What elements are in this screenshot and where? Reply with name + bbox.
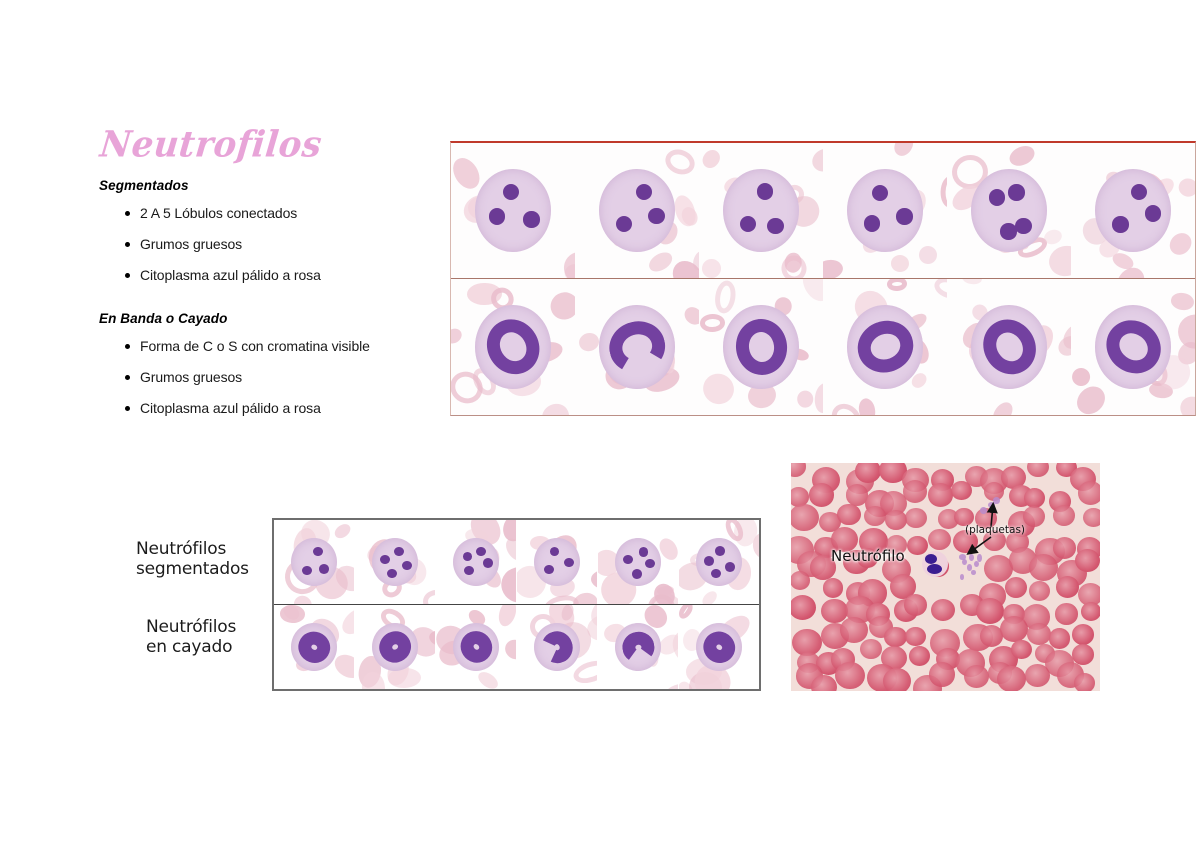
red-blood-cell bbox=[571, 590, 597, 604]
neutrophil-cell bbox=[291, 623, 337, 672]
section-heading-segmentados: Segmentados bbox=[99, 178, 459, 193]
red-blood-cell bbox=[475, 669, 501, 689]
red-blood-cell bbox=[1011, 640, 1032, 659]
band-neutrophil-cell bbox=[354, 605, 435, 689]
red-blood-cell bbox=[883, 668, 911, 691]
red-blood-cell bbox=[932, 279, 947, 302]
neutrophil-cell bbox=[534, 538, 580, 587]
red-blood-cell bbox=[903, 480, 927, 502]
nucleus-band bbox=[477, 310, 549, 384]
red-blood-cell bbox=[886, 279, 907, 291]
red-blood-cell bbox=[961, 279, 982, 285]
band-neutrophil-cell bbox=[575, 279, 699, 415]
red-blood-cell bbox=[791, 463, 806, 477]
red-blood-cell bbox=[811, 675, 838, 691]
red-blood-cell bbox=[700, 313, 726, 332]
red-blood-cell bbox=[780, 253, 809, 278]
plate-row-band bbox=[274, 605, 759, 689]
red-blood-cell bbox=[1053, 505, 1075, 526]
segmented-neutrophil-cell bbox=[823, 143, 947, 278]
red-blood-cell bbox=[1000, 616, 1028, 642]
platelet bbox=[993, 497, 1000, 503]
red-blood-cell bbox=[713, 279, 738, 314]
red-blood-cell bbox=[1081, 602, 1100, 621]
red-blood-cell bbox=[891, 143, 917, 160]
red-blood-cell bbox=[929, 662, 956, 687]
nucleus-band bbox=[1095, 310, 1170, 384]
red-blood-cell bbox=[918, 245, 936, 263]
plate-label-cayado: Neutrófilos en cayado bbox=[146, 617, 236, 657]
nucleus-lobe bbox=[503, 184, 519, 200]
red-blood-cell bbox=[791, 595, 816, 620]
micrograph-strip-neutrophils bbox=[450, 141, 1196, 416]
red-blood-cell bbox=[661, 146, 698, 180]
red-blood-cell bbox=[931, 599, 955, 621]
nucleus-lobe bbox=[463, 552, 473, 562]
nucleus-band bbox=[732, 316, 789, 378]
bullet-dot-icon bbox=[125, 211, 130, 216]
nucleus-lobe bbox=[564, 558, 574, 568]
neutrophil-cell bbox=[534, 623, 580, 672]
red-blood-cell bbox=[1027, 623, 1051, 646]
plate-box bbox=[272, 518, 761, 691]
annotation-label-plaquetas: (plaquetas) bbox=[965, 524, 1025, 536]
red-blood-cell bbox=[1071, 381, 1110, 415]
nucleus-lobe bbox=[544, 565, 554, 575]
red-blood-cell bbox=[1071, 365, 1093, 389]
plate-label-line: Neutrófilos bbox=[146, 617, 236, 637]
list-item: Citoplasma azul pálido a rosa bbox=[99, 268, 459, 282]
neutrophil-cell bbox=[723, 305, 800, 389]
band-neutrophil-cell bbox=[516, 605, 597, 689]
red-blood-cell bbox=[590, 568, 597, 591]
annotation-label-neutrofilo: Neutrófilo bbox=[831, 547, 905, 565]
red-blood-cell bbox=[1029, 581, 1050, 601]
notes-column: Segmentados 2 A 5 Lóbulos conectados Gru… bbox=[99, 178, 459, 432]
red-blood-cell bbox=[860, 639, 881, 659]
nucleus-band bbox=[973, 310, 1046, 384]
list-item-label: Grumos gruesos bbox=[140, 369, 242, 385]
nucleus-band bbox=[454, 625, 498, 669]
list-item: Citoplasma azul pálido a rosa bbox=[99, 401, 459, 415]
segmented-neutrophil-cell bbox=[274, 520, 354, 604]
red-blood-cell bbox=[837, 504, 860, 525]
nucleus-lobe bbox=[725, 562, 735, 572]
red-blood-cell bbox=[1072, 644, 1094, 664]
neutrophil-cell bbox=[453, 623, 499, 672]
bullet-dot-icon bbox=[125, 242, 130, 247]
nucleus-band bbox=[537, 627, 577, 668]
nucleus-lobe bbox=[1145, 205, 1161, 221]
nucleus-lobe bbox=[896, 208, 912, 224]
red-blood-cell bbox=[814, 382, 823, 414]
red-blood-cell bbox=[809, 483, 835, 507]
neutrophil-cell bbox=[615, 538, 661, 587]
red-blood-cell bbox=[885, 510, 907, 530]
nucleus-lobe bbox=[380, 555, 390, 565]
nucleus-lobe bbox=[864, 215, 880, 231]
nucleus-lobe bbox=[645, 559, 655, 569]
platelet bbox=[977, 554, 982, 562]
nucleus-lobe bbox=[1000, 223, 1016, 239]
red-blood-cell bbox=[1056, 576, 1079, 597]
red-blood-cell bbox=[835, 662, 865, 690]
document-page: Neutrofilos Segmentados 2 A 5 Lóbulos co… bbox=[0, 0, 1200, 849]
plate-label-line: Neutrófilos bbox=[136, 539, 249, 559]
red-blood-cell bbox=[840, 617, 868, 643]
bullet-list-cayado: Forma de C o S con cromatina visible Gru… bbox=[99, 339, 459, 415]
nucleus-lobe bbox=[623, 555, 633, 565]
red-blood-cell bbox=[989, 399, 1017, 415]
red-blood-cell bbox=[423, 590, 435, 604]
red-blood-cell bbox=[1005, 577, 1027, 598]
red-blood-cell bbox=[928, 483, 953, 506]
bullet-dot-icon bbox=[125, 375, 130, 380]
plate-labels: Neutrófilos segmentados Neutrófilos en c… bbox=[136, 518, 268, 691]
nucleus-lobe bbox=[872, 185, 888, 201]
red-blood-cell bbox=[1055, 603, 1078, 624]
red-blood-cell bbox=[907, 536, 928, 556]
nucleus-lobe bbox=[489, 208, 505, 224]
plate-label-line: segmentados bbox=[136, 559, 249, 579]
nucleus-lobe bbox=[1131, 184, 1147, 200]
nucleus-lobe bbox=[757, 183, 773, 199]
band-neutrophil-cell bbox=[678, 605, 759, 689]
nucleus-band bbox=[850, 314, 919, 381]
red-blood-cell bbox=[890, 254, 909, 272]
segmented-neutrophil-cell bbox=[678, 520, 759, 604]
nucleus-lobe bbox=[550, 547, 560, 557]
band-neutrophil-cell bbox=[699, 279, 823, 415]
list-item: Forma de C o S con cromatina visible bbox=[99, 339, 459, 353]
blood-smear-photo: Neutrófilo (plaquetas) bbox=[791, 463, 1100, 691]
segmented-neutrophil-cell bbox=[516, 520, 597, 604]
red-blood-cell bbox=[1165, 229, 1195, 259]
nucleus-band bbox=[604, 315, 671, 378]
red-blood-cell bbox=[976, 598, 1004, 624]
section-heading-en-banda-o-cayado: En Banda o Cayado bbox=[99, 311, 459, 326]
platelet bbox=[980, 507, 987, 514]
band-neutrophil-cell bbox=[274, 605, 354, 689]
platelet bbox=[960, 574, 964, 580]
nucleus-lobe bbox=[767, 218, 783, 234]
red-blood-cell bbox=[338, 605, 354, 639]
nucleus-lobe bbox=[632, 569, 642, 579]
band-neutrophil-cell bbox=[451, 279, 575, 415]
nucleus-lobe bbox=[989, 189, 1005, 205]
neutrophil-cell bbox=[922, 551, 948, 577]
nucleus-lobe bbox=[1008, 184, 1024, 200]
neutrophil-cell bbox=[1095, 169, 1172, 253]
red-blood-cell bbox=[855, 463, 881, 483]
neutrophil-cell bbox=[291, 538, 337, 587]
page-title: Neutrofilos bbox=[98, 124, 324, 166]
list-item: Grumos gruesos bbox=[99, 370, 459, 384]
red-blood-cell bbox=[451, 326, 465, 347]
nucleus-lobe bbox=[616, 216, 632, 232]
plate-label-line: en cayado bbox=[146, 637, 236, 657]
list-item-label: Citoplasma azul pálido a rosa bbox=[140, 400, 321, 416]
red-blood-cell bbox=[1072, 624, 1094, 645]
neutrophil-cell bbox=[615, 623, 661, 672]
section-spacer bbox=[99, 299, 459, 311]
red-blood-cell bbox=[823, 258, 844, 278]
nucleus-lobe bbox=[313, 547, 323, 557]
red-blood-cell bbox=[1170, 291, 1195, 311]
nucleus-lobe bbox=[387, 569, 397, 579]
red-blood-cell bbox=[502, 636, 516, 663]
neutrophil-cell bbox=[599, 305, 676, 389]
red-blood-cell bbox=[1078, 481, 1101, 505]
nucleus-lobe bbox=[483, 558, 493, 568]
red-blood-cell bbox=[1027, 463, 1049, 477]
neutrophil-cell bbox=[723, 169, 800, 253]
neutrophil-cell bbox=[847, 305, 924, 389]
red-blood-cell bbox=[495, 605, 516, 628]
nucleus-lobe bbox=[1112, 216, 1128, 232]
red-blood-cell bbox=[699, 147, 723, 172]
band-neutrophil-cell bbox=[823, 279, 947, 415]
list-item-label: 2 A 5 Lóbulos conectados bbox=[140, 205, 297, 221]
neutrophil-cell bbox=[475, 169, 552, 253]
nucleus-band bbox=[620, 629, 657, 664]
bullet-dot-icon bbox=[125, 406, 130, 411]
nucleus-lobe bbox=[715, 546, 725, 556]
neutrophil-cell bbox=[847, 169, 924, 253]
neutrophil-cell bbox=[453, 538, 499, 587]
red-blood-cell bbox=[561, 249, 575, 278]
red-blood-cell bbox=[1029, 554, 1058, 581]
band-neutrophil-cell bbox=[435, 605, 516, 689]
neutrophil-cell bbox=[971, 169, 1048, 253]
segmented-neutrophil-cell bbox=[451, 143, 575, 278]
strip-row-segmented bbox=[451, 143, 1195, 279]
red-blood-cell bbox=[797, 279, 823, 306]
band-neutrophil-cell bbox=[947, 279, 1071, 415]
bullet-list-segmentados: 2 A 5 Lóbulos conectados Grumos gruesos … bbox=[99, 206, 459, 282]
red-blood-cell bbox=[909, 646, 930, 666]
nucleus-band bbox=[373, 625, 417, 669]
nucleus-lobe bbox=[394, 547, 404, 557]
red-blood-cell bbox=[1053, 537, 1076, 559]
red-blood-cell bbox=[1025, 664, 1049, 687]
list-item: 2 A 5 Lóbulos conectados bbox=[99, 206, 459, 220]
red-blood-cell bbox=[1046, 242, 1071, 278]
segmented-neutrophil-cell bbox=[597, 520, 678, 604]
red-blood-cell bbox=[1007, 143, 1038, 169]
segmented-neutrophil-cell bbox=[435, 520, 516, 604]
neutrophil-cell bbox=[971, 305, 1048, 389]
red-blood-cell bbox=[1023, 506, 1045, 527]
red-blood-cell bbox=[904, 594, 927, 615]
red-blood-cell bbox=[864, 506, 886, 527]
red-blood-cell bbox=[700, 258, 723, 278]
segmented-neutrophil-cell bbox=[354, 520, 435, 604]
nucleus-lobe bbox=[740, 216, 756, 232]
red-blood-cell bbox=[1176, 176, 1195, 199]
red-blood-cell bbox=[279, 605, 305, 624]
nucleus-lobe bbox=[639, 547, 649, 557]
red-blood-cell bbox=[964, 665, 990, 689]
neutrophil-cell bbox=[475, 305, 552, 389]
list-item-label: Citoplasma azul pálido a rosa bbox=[140, 267, 321, 283]
red-blood-cell bbox=[791, 504, 819, 531]
plate-label-segmentados: Neutrófilos segmentados bbox=[136, 539, 249, 579]
band-neutrophil-cell bbox=[1071, 279, 1195, 415]
bullet-dot-icon bbox=[125, 273, 130, 278]
red-blood-cell bbox=[823, 578, 844, 597]
nucleus-lobe bbox=[711, 569, 721, 579]
neutrophil-cell bbox=[696, 538, 742, 587]
nucleus-band bbox=[697, 625, 741, 669]
red-blood-cell bbox=[856, 397, 876, 415]
segmented-neutrophil-cell bbox=[575, 143, 699, 278]
red-blood-cell bbox=[905, 627, 926, 646]
labelled-neutrophil-plate: Neutrófilos segmentados Neutrófilos en c… bbox=[136, 518, 761, 691]
nucleus-lobe bbox=[476, 547, 486, 557]
nucleus-lobe bbox=[464, 566, 474, 576]
red-blood-cell bbox=[538, 399, 573, 415]
red-blood-cell bbox=[645, 248, 674, 274]
red-blood-cell bbox=[332, 521, 353, 541]
red-blood-cell bbox=[884, 627, 906, 648]
red-blood-cell bbox=[546, 287, 575, 324]
nucleus-band bbox=[292, 626, 335, 669]
red-blood-cell bbox=[997, 666, 1026, 691]
red-blood-cell bbox=[797, 390, 813, 407]
red-blood-cell bbox=[1083, 508, 1100, 528]
list-item-label: Forma de C o S con cromatina visible bbox=[140, 338, 370, 354]
neutrophil-cell bbox=[696, 623, 742, 672]
nucleus-lobe bbox=[648, 208, 664, 224]
nucleus-lobe bbox=[523, 211, 539, 227]
plate-row-segmented bbox=[274, 520, 759, 605]
red-blood-cell bbox=[928, 529, 951, 551]
nucleus-lobe bbox=[319, 564, 329, 574]
segmented-neutrophil-cell bbox=[699, 143, 823, 278]
red-blood-cell bbox=[809, 145, 823, 177]
red-blood-cell bbox=[661, 680, 678, 689]
neutrophil-cell bbox=[1095, 305, 1172, 389]
list-item: Grumos gruesos bbox=[99, 237, 459, 251]
nucleus-lobe bbox=[636, 184, 652, 200]
strip-row-band bbox=[451, 279, 1195, 415]
segmented-neutrophil-cell bbox=[1071, 143, 1195, 278]
red-blood-cell bbox=[905, 508, 927, 529]
smear-red-cells bbox=[791, 463, 1100, 691]
red-blood-cell bbox=[502, 535, 516, 563]
red-blood-cell bbox=[951, 481, 972, 500]
nucleus-lobe bbox=[704, 556, 714, 566]
band-neutrophil-cell bbox=[597, 605, 678, 689]
red-blood-cell bbox=[1075, 549, 1100, 572]
red-blood-cell bbox=[1177, 314, 1195, 350]
list-item-label: Grumos gruesos bbox=[140, 236, 242, 252]
red-blood-cell bbox=[678, 605, 695, 621]
neutrophil-cell bbox=[372, 538, 418, 587]
red-blood-cell bbox=[791, 571, 810, 590]
red-blood-cell bbox=[699, 589, 719, 604]
red-blood-cell bbox=[682, 303, 699, 328]
neutrophil-cell bbox=[372, 623, 418, 672]
bullet-dot-icon bbox=[125, 344, 130, 349]
nucleus-lobe bbox=[1015, 218, 1031, 234]
red-blood-cell bbox=[1074, 673, 1095, 691]
red-blood-cell bbox=[1175, 392, 1195, 415]
nucleus-lobe bbox=[402, 561, 412, 571]
segmented-neutrophil-cell bbox=[947, 143, 1071, 278]
neutrophil-cell bbox=[599, 169, 676, 253]
nucleus-lobe bbox=[302, 566, 312, 576]
